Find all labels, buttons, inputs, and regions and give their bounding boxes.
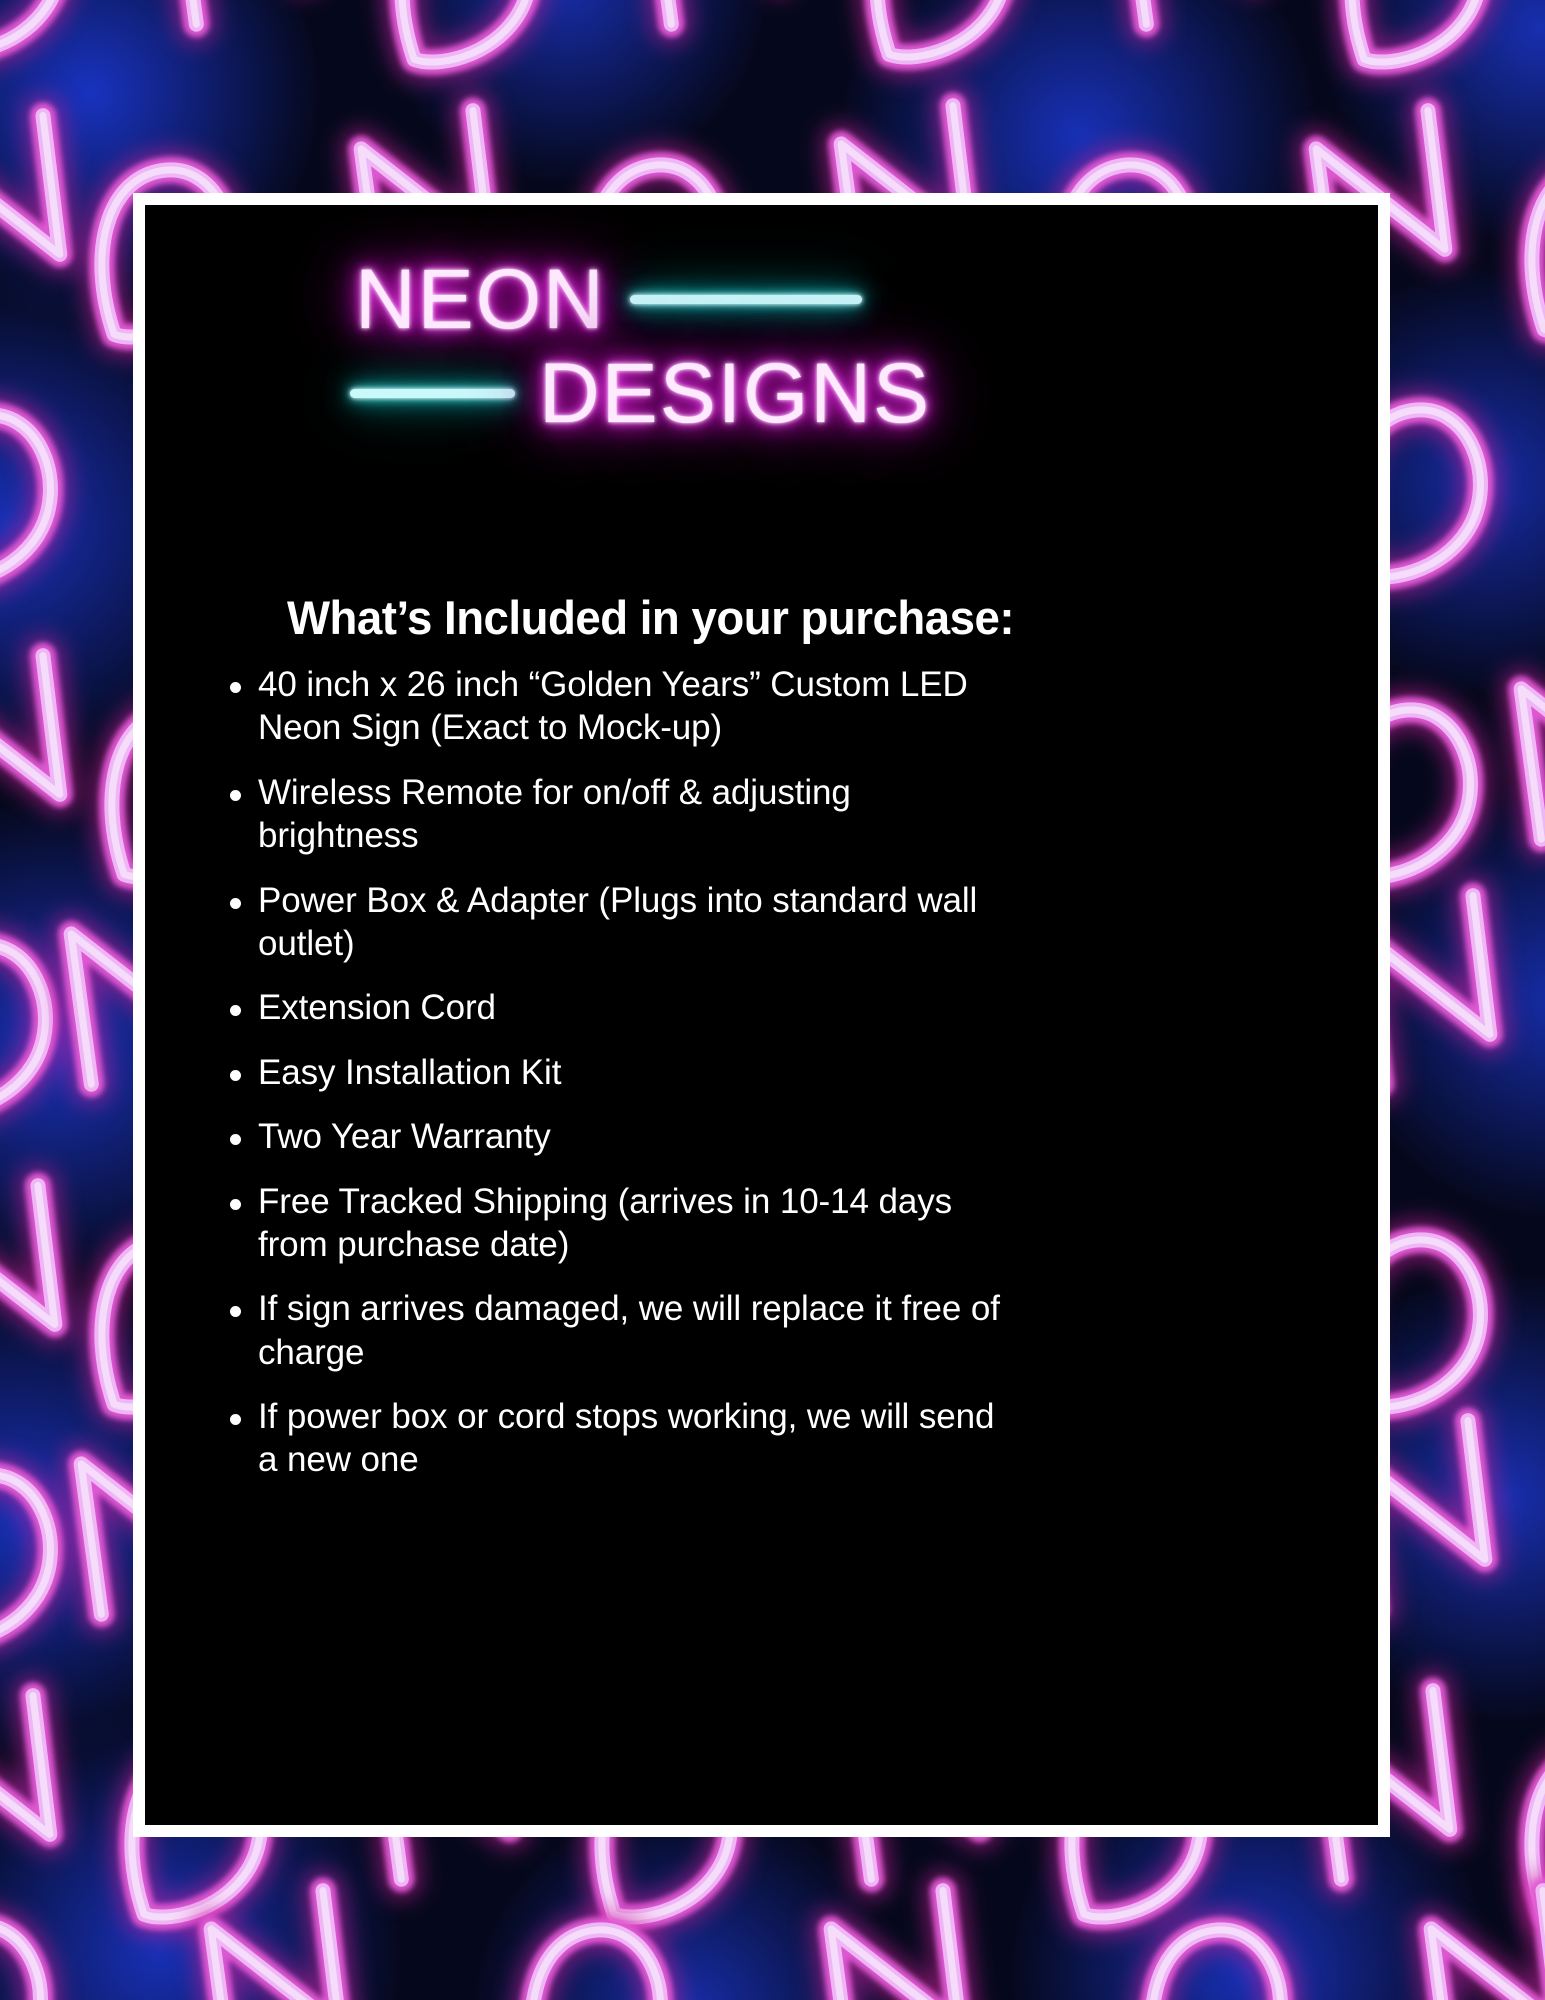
list-item-label: If power box or cord stops working, we w…	[258, 1395, 1018, 1482]
list-item: 40 inch x 26 inch “Golden Years” Custom …	[230, 663, 1290, 750]
white-frame-border: NEON DESIGNS What’s Included in your pur…	[133, 193, 1390, 1837]
bullet-icon	[230, 682, 241, 693]
list-item: Extension Cord	[230, 986, 1290, 1029]
bullet-icon	[230, 898, 241, 909]
list-item: Power Box & Adapter (Plugs into standard…	[230, 879, 1290, 966]
bullet-icon	[230, 1134, 241, 1145]
list-item-label: If sign arrives damaged, we will replace…	[258, 1287, 1018, 1374]
list-item: Free Tracked Shipping (arrives in 10-14 …	[230, 1180, 1290, 1267]
black-card: NEON DESIGNS What’s Included in your pur…	[145, 205, 1378, 1825]
list-item-label: Extension Cord	[258, 986, 1018, 1029]
logo-line-one: NEON	[355, 257, 862, 341]
brand-logo: NEON DESIGNS	[145, 233, 1378, 463]
logo-text-neon: NEON	[355, 257, 606, 341]
list-item: If power box or cord stops working, we w…	[230, 1395, 1290, 1482]
logo-line-two: DESIGNS	[350, 351, 931, 435]
included-items-list: 40 inch x 26 inch “Golden Years” Custom …	[230, 663, 1290, 1482]
list-item-label: Two Year Warranty	[258, 1115, 1018, 1158]
list-item-label: Power Box & Adapter (Plugs into standard…	[258, 879, 1018, 966]
list-item: If sign arrives damaged, we will replace…	[230, 1287, 1290, 1374]
list-item-label: Free Tracked Shipping (arrives in 10-14 …	[258, 1180, 1018, 1267]
list-item: Wireless Remote for on/off & adjusting b…	[230, 771, 1290, 858]
teal-accent-bar-right	[630, 295, 862, 304]
teal-accent-bar-left	[350, 389, 515, 398]
logo-text-designs: DESIGNS	[539, 351, 931, 435]
bullet-icon	[230, 1199, 241, 1210]
bullet-icon	[230, 1306, 241, 1317]
bullet-icon	[230, 1414, 241, 1425]
list-item: Two Year Warranty	[230, 1115, 1290, 1158]
page-title: What’s Included in your purchase:	[287, 593, 1267, 642]
bullet-icon	[230, 1005, 241, 1016]
neon-designs-product-card: NEON DESIGNS What’s Included in your pur…	[0, 0, 1545, 2000]
list-item-label: Easy Installation Kit	[258, 1051, 1018, 1094]
bullet-icon	[230, 790, 241, 801]
list-item: Easy Installation Kit	[230, 1051, 1290, 1094]
list-item-label: Wireless Remote for on/off & adjusting b…	[258, 771, 1018, 858]
bullet-icon	[230, 1070, 241, 1081]
list-item-label: 40 inch x 26 inch “Golden Years” Custom …	[258, 663, 1018, 750]
